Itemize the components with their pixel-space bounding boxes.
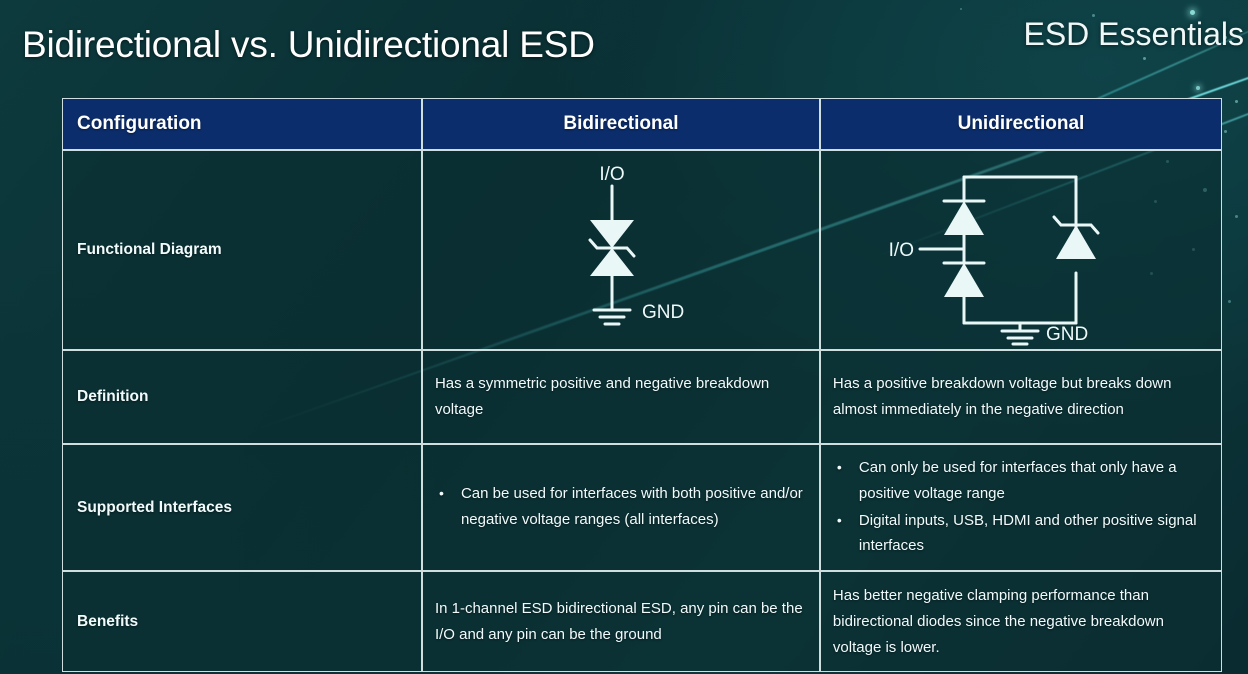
- bullet-list: Can be used for interfaces with both pos…: [435, 481, 805, 533]
- particle-icon: [1235, 215, 1238, 218]
- bidirectional-tvs-diode-icon: I/O GND: [423, 151, 819, 349]
- cell-supported-interfaces-bidirectional: Can be used for interfaces with both pos…: [422, 444, 820, 571]
- cell-supported-interfaces-unidirectional: Can only be used for interfaces that onl…: [820, 444, 1222, 571]
- row-label-definition: Definition: [62, 350, 422, 444]
- bullet-list: Can only be used for interfaces that onl…: [833, 455, 1207, 559]
- row-label-functional-diagram: Functional Diagram: [62, 150, 422, 350]
- cell-benefits-unidirectional: Has better negative clamping performance…: [820, 571, 1222, 672]
- particle-icon: [1228, 300, 1231, 303]
- table-row: Functional Diagram: [62, 150, 1222, 350]
- unidirectional-gnd-label: GND: [1046, 324, 1088, 345]
- comparison-table-wrapper: Configuration Bidirectional Unidirection…: [62, 98, 1222, 662]
- particle-icon: [960, 8, 962, 10]
- table-header-row: Configuration Bidirectional Unidirection…: [62, 98, 1222, 150]
- particle-icon: [1196, 86, 1200, 90]
- series-brand-label: ESD Essentials: [1023, 16, 1244, 53]
- row-label-supported-interfaces: Supported Interfaces: [62, 444, 422, 571]
- bidirectional-gnd-label: GND: [642, 302, 684, 323]
- cell-definition-bidirectional: Has a symmetric positive and negative br…: [422, 350, 820, 444]
- page-title: Bidirectional vs. Unidirectional ESD: [22, 24, 595, 66]
- steering-diode-rail-clamp-icon: I/O GND: [821, 151, 1221, 349]
- particle-icon: [1235, 100, 1238, 103]
- cell-benefits-bidirectional: In 1-channel ESD bidirectional ESD, any …: [422, 571, 820, 672]
- cell-unidirectional-diagram: I/O GND: [820, 150, 1222, 350]
- table-row: Definition Has a symmetric positive and …: [62, 350, 1222, 444]
- list-item: Can only be used for interfaces that onl…: [833, 455, 1207, 507]
- particle-icon: [1190, 10, 1195, 15]
- cell-bidirectional-diagram: I/O GND: [422, 150, 820, 350]
- list-item: Can be used for interfaces with both pos…: [435, 481, 805, 533]
- table-row: Supported Interfaces Can be used for int…: [62, 444, 1222, 571]
- column-header-bidirectional: Bidirectional: [422, 98, 820, 150]
- column-header-unidirectional: Unidirectional: [820, 98, 1222, 150]
- bidirectional-io-label: I/O: [599, 164, 624, 185]
- list-item: Digital inputs, USB, HDMI and other posi…: [833, 508, 1207, 560]
- comparison-table: Configuration Bidirectional Unidirection…: [62, 98, 1222, 672]
- particle-icon: [1224, 130, 1227, 133]
- table-row: Benefits In 1-channel ESD bidirectional …: [62, 571, 1222, 672]
- particle-icon: [1143, 57, 1146, 60]
- unidirectional-io-label: I/O: [889, 240, 914, 261]
- slide-canvas: Bidirectional vs. Unidirectional ESD ESD…: [0, 0, 1248, 674]
- column-header-configuration: Configuration: [62, 98, 422, 150]
- row-label-benefits: Benefits: [62, 571, 422, 672]
- cell-definition-unidirectional: Has a positive breakdown voltage but bre…: [820, 350, 1222, 444]
